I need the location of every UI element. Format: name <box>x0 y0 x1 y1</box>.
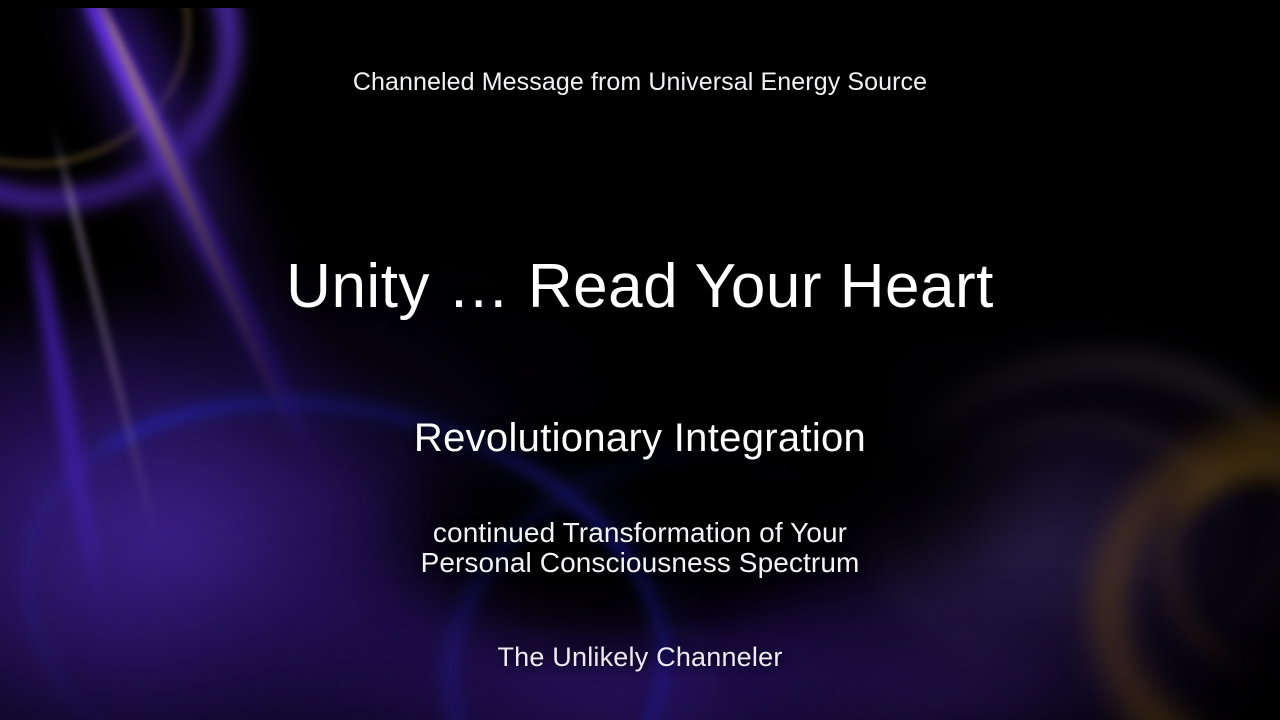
subtitle: continued Transformation of Your Persona… <box>0 518 1280 577</box>
page-title: Unity … Read Your Heart <box>0 251 1280 322</box>
slide-content: Channeled Message from Universal Energy … <box>0 0 1280 720</box>
section-title: Revolutionary Integration <box>0 416 1280 461</box>
title-slide: Channeled Message from Universal Energy … <box>0 0 1280 720</box>
subtitle-line-2: Personal Consciousness Spectrum <box>0 548 1280 578</box>
byline-text: The Unlikely Channeler <box>0 642 1280 673</box>
eyebrow-text: Channeled Message from Universal Energy … <box>0 68 1280 97</box>
subtitle-line-1: continued Transformation of Your <box>0 518 1280 548</box>
